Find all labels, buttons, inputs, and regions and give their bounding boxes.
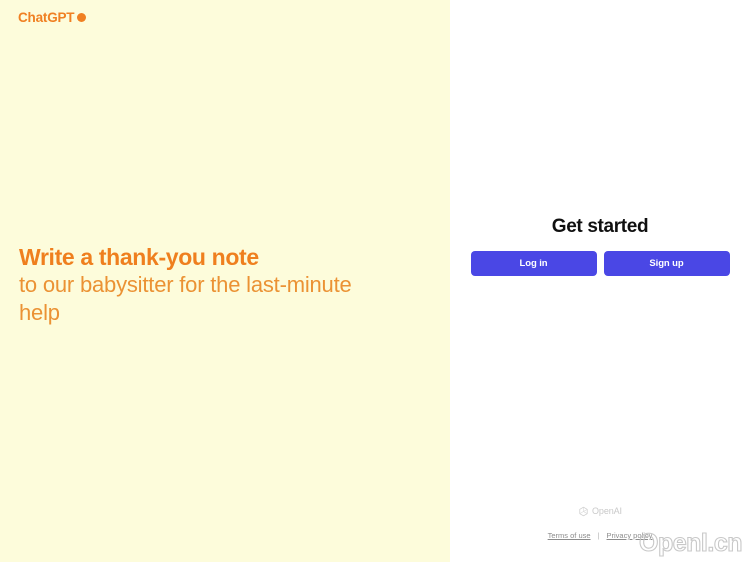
login-button[interactable]: Log in: [471, 251, 597, 276]
legal-separator: |: [598, 531, 600, 540]
orange-dot-icon: [77, 13, 86, 22]
signup-button[interactable]: Sign up: [604, 251, 730, 276]
legal-links: Terms of use | Privacy policy: [548, 531, 653, 540]
openai-branding: OpenAI: [578, 506, 622, 517]
openai-wordmark: OpenAI: [592, 507, 622, 516]
terms-of-use-link[interactable]: Terms of use: [548, 531, 591, 540]
get-started-block: Get started Log in Sign up: [450, 216, 750, 276]
left-promo-panel: ChatGPT Write a thank-you note to our ba…: [0, 0, 450, 562]
chatgpt-welcome-page: ChatGPT Write a thank-you note to our ba…: [0, 0, 750, 562]
right-auth-panel: Get started Log in Sign up OpenAI Terms …: [450, 0, 750, 562]
chatgpt-brand-logo[interactable]: ChatGPT: [18, 11, 86, 25]
openai-logo-icon: [578, 506, 589, 517]
promo-subline: to our babysitter for the last-minute he…: [19, 271, 397, 327]
promo-text-block: Write a thank-you note to our babysitter…: [19, 243, 419, 327]
privacy-policy-link[interactable]: Privacy policy: [607, 531, 653, 540]
page-footer: OpenAI Terms of use | Privacy policy: [450, 506, 750, 540]
promo-headline: Write a thank-you note: [19, 243, 419, 271]
chatgpt-wordmark: ChatGPT: [18, 11, 74, 25]
auth-buttons-row: Log in Sign up: [471, 251, 730, 276]
page-title: Get started: [552, 216, 648, 238]
